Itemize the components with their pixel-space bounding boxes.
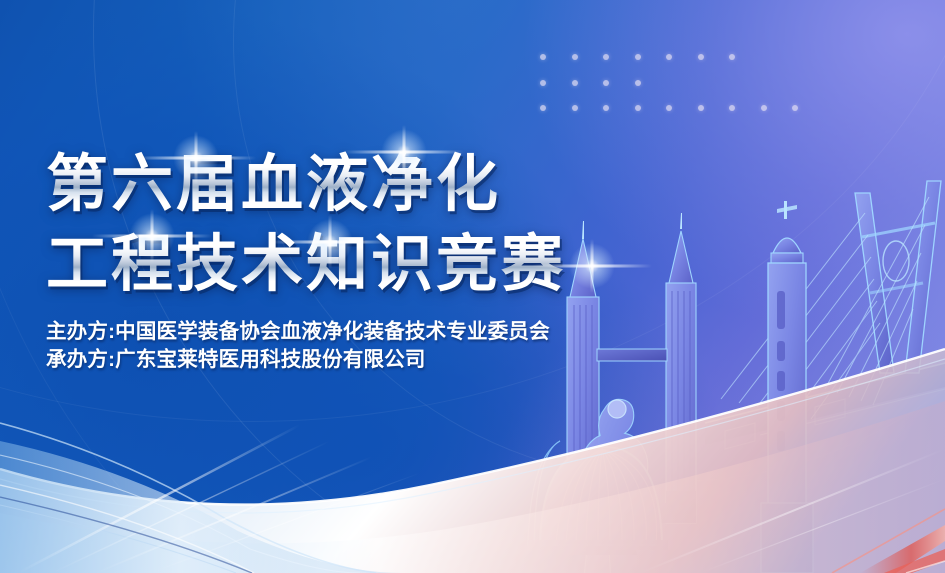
grid-dot [729,105,735,111]
event-banner: 第六届血液净化 工程技术知识竞赛 主办方:中国医学装备协会血液净化装备技术专业委… [0,0,945,573]
grid-dot [698,54,704,60]
grid-dot [572,54,578,60]
grid-dot [572,105,578,111]
grid-dot [540,105,546,111]
grid-dot [698,105,704,111]
banner-title-line-2: 工程技术知识竞赛 [46,228,686,302]
grid-dot [603,54,609,60]
dot-grid-decoration [540,54,798,131]
organizer-line: 主办方:中国医学装备协会血液净化装备技术专业委员会 [46,318,686,346]
host-line: 承办方:广东宝莱特医用科技股份有限公司 [46,346,686,374]
grid-dot [792,105,798,111]
dot-grid-row [540,80,798,86]
grid-dot [666,54,672,60]
grid-dot [572,80,578,86]
grid-dot [540,54,546,60]
grid-dot [603,105,609,111]
grid-dot [603,80,609,86]
grid-dot [635,80,641,86]
grid-dot [540,80,546,86]
grid-dot [635,105,641,111]
dot-grid-row [540,105,798,111]
grid-dot [729,54,735,60]
banner-subtitle-block: 主办方:中国医学装备协会血液净化装备技术专业委员会 承办方:广东宝莱特医用科技股… [46,318,686,374]
dot-grid-row [540,54,798,60]
grid-dot [761,105,767,111]
banner-content: 第六届血液净化 工程技术知识竞赛 主办方:中国医学装备协会血液净化装备技术专业委… [46,148,686,374]
grid-dot [635,54,641,60]
grid-dot [666,105,672,111]
banner-title-line-1: 第六届血液净化 [46,148,686,222]
